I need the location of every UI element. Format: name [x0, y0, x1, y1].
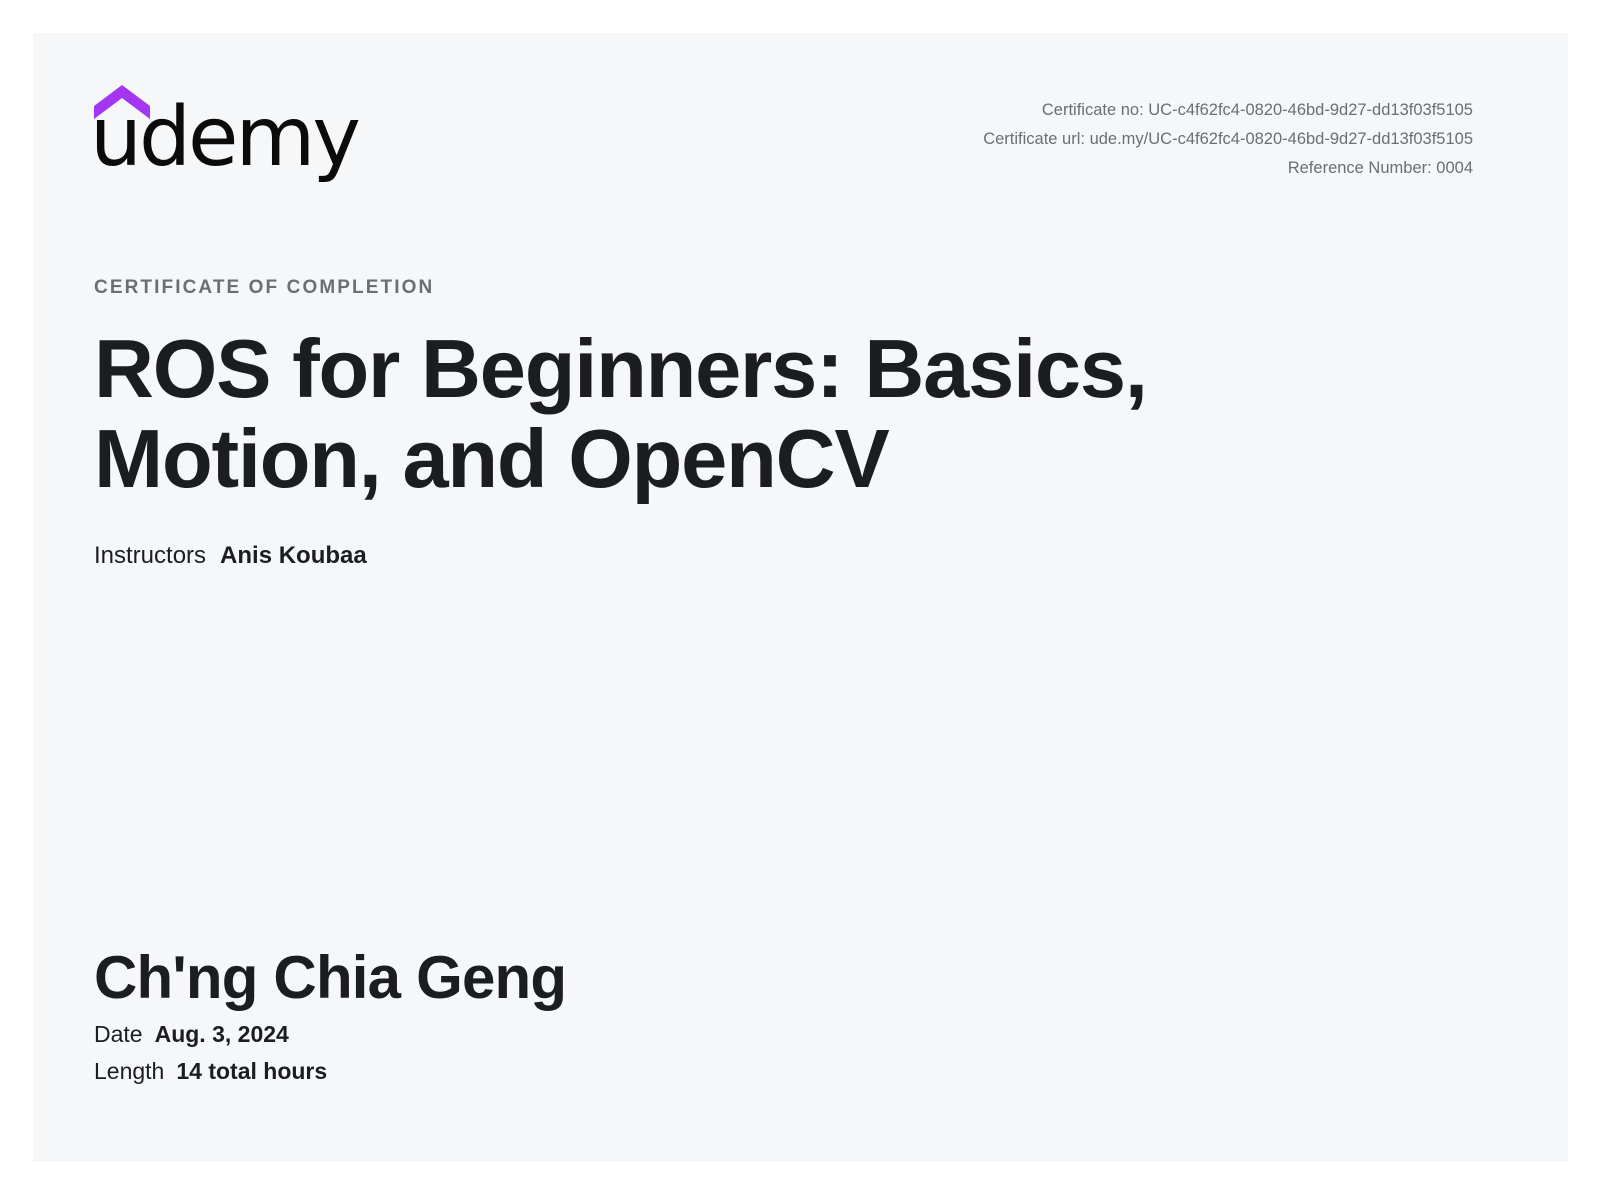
- certificate-header: udemy Certificate no: UC-c4f62fc4-0820-4…: [33, 33, 1568, 213]
- certificate-body: CERTIFICATE OF COMPLETION ROS for Beginn…: [94, 278, 1514, 568]
- reference-number: Reference Number: 0004: [983, 154, 1473, 183]
- instructors-names: Anis Koubaa: [220, 542, 367, 569]
- certificate-url: Certificate url: ude.my/UC-c4f62fc4-0820…: [983, 125, 1473, 154]
- certificate-card: udemy Certificate no: UC-c4f62fc4-0820-4…: [33, 33, 1568, 1162]
- certificate-number: Certificate no: UC-c4f62fc4-0820-46bd-9d…: [983, 96, 1473, 125]
- length-label: Length: [94, 1058, 164, 1084]
- udemy-wordmark: udemy: [90, 97, 358, 179]
- certificate-page: udemy Certificate no: UC-c4f62fc4-0820-4…: [0, 0, 1600, 1190]
- length-value: 14 total hours: [176, 1058, 327, 1084]
- date-value: Aug. 3, 2024: [155, 1021, 289, 1047]
- date-label: Date: [94, 1021, 143, 1047]
- date-row: DateAug. 3, 2024: [94, 1023, 1294, 1046]
- recipient-name: Ch'ng Chia Geng: [94, 946, 1294, 1009]
- instructors-label: Instructors: [94, 542, 206, 569]
- certificate-eyebrow-heading: CERTIFICATE OF COMPLETION: [94, 278, 1514, 297]
- length-row: Length14 total hours: [94, 1060, 1294, 1083]
- course-title: ROS for Beginners: Basics, Motion, and O…: [94, 324, 1434, 505]
- udemy-logo: udemy: [94, 85, 364, 195]
- recipient-block: Ch'ng Chia Geng DateAug. 3, 2024 Length1…: [94, 946, 1294, 1083]
- certificate-meta-block: Certificate no: UC-c4f62fc4-0820-46bd-9d…: [983, 96, 1473, 183]
- instructors-row: InstructorsAnis Koubaa: [94, 544, 1514, 568]
